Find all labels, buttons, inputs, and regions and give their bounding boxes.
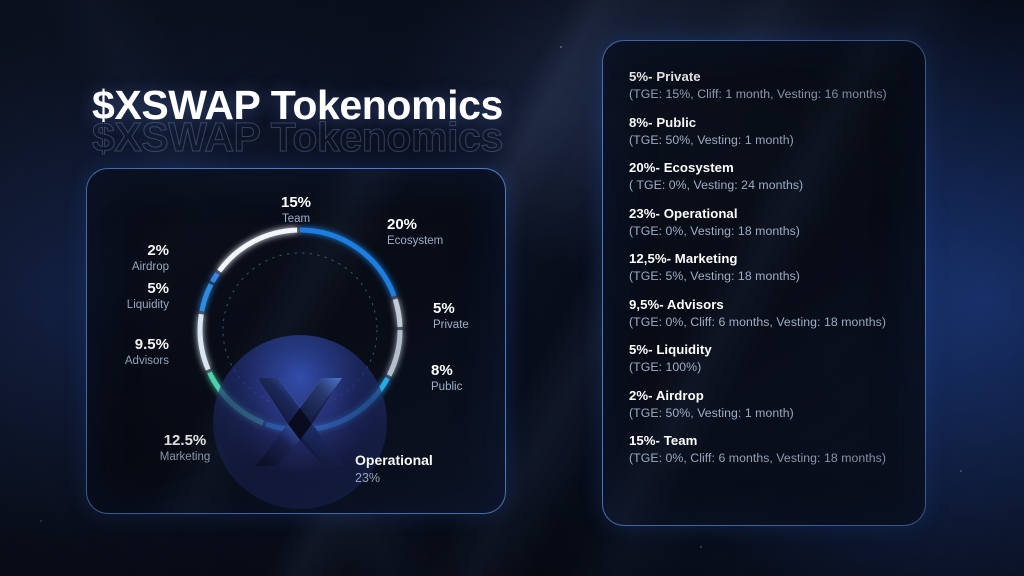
- chart-label-ecosystem: 20% Ecosystem: [387, 217, 443, 248]
- chart-label-marketing-pct: 12.5%: [137, 433, 233, 450]
- chart-label-ecosystem-pct: 20%: [387, 217, 443, 234]
- allocation-detail: ( TGE: 0%, Vesting: 24 months): [629, 178, 907, 192]
- chart-label-ecosystem-name: Ecosystem: [387, 235, 443, 248]
- chart-label-marketing-name: Marketing: [137, 451, 233, 464]
- chart-label-private-pct: 5%: [433, 301, 469, 318]
- allocation-row: 9,5%- Advisors(TGE: 0%, Cliff: 6 months,…: [629, 297, 907, 329]
- allocation-row: 23%- Operational(TGE: 0%, Vesting: 18 mo…: [629, 206, 907, 238]
- chart-label-advisors-pct: 9.5%: [86, 337, 169, 354]
- allocation-heading: 5%- Private: [629, 69, 907, 84]
- allocation-heading: 15%- Team: [629, 433, 907, 448]
- chart-label-team-name: Team: [251, 213, 341, 226]
- page-title: $XSWAP Tokenomics $XSWAP Tokenomics: [92, 82, 503, 129]
- chart-label-operational-name: Operational: [355, 453, 433, 469]
- allocation-detail: (TGE: 5%, Vesting: 18 months): [629, 269, 907, 283]
- chart-label-airdrop-name: Airdrop: [86, 261, 169, 274]
- chart-label-airdrop: 2% Airdrop: [86, 243, 169, 274]
- allocation-heading: 20%- Ecosystem: [629, 160, 907, 175]
- chart-label-public: 8% Public: [431, 363, 462, 394]
- background-speck: [560, 46, 562, 48]
- allocation-row: 12,5%- Marketing(TGE: 5%, Vesting: 18 mo…: [629, 251, 907, 283]
- allocation-heading: 5%- Liquidity: [629, 342, 907, 357]
- xswap-logo-icon: [248, 370, 352, 474]
- allocation-detail: (TGE: 0%, Cliff: 6 months, Vesting: 18 m…: [629, 451, 907, 465]
- allocation-heading: 12,5%- Marketing: [629, 251, 907, 266]
- allocation-detail: (TGE: 50%, Vesting: 1 month): [629, 133, 907, 147]
- allocation-row: 2%- Airdrop(TGE: 50%, Vesting: 1 month): [629, 388, 907, 420]
- donut-chart: 15% Team 20% Ecosystem 5% Private 8% Pub…: [87, 169, 506, 514]
- allocation-detail: (TGE: 50%, Vesting: 1 month): [629, 406, 907, 420]
- allocation-row: 8%- Public(TGE: 50%, Vesting: 1 month): [629, 115, 907, 147]
- allocation-row: 20%- Ecosystem( TGE: 0%, Vesting: 24 mon…: [629, 160, 907, 192]
- allocation-detail: (TGE: 15%, Cliff: 1 month, Vesting: 16 m…: [629, 87, 907, 101]
- chart-label-advisors: 9.5% Advisors: [86, 337, 169, 368]
- allocation-detail: (TGE: 100%): [629, 360, 907, 374]
- chart-label-liquidity-name: Liquidity: [86, 299, 169, 312]
- allocation-heading: 23%- Operational: [629, 206, 907, 221]
- chart-label-operational: Operational 23%: [355, 453, 433, 485]
- chart-label-private: 5% Private: [433, 301, 469, 332]
- chart-label-airdrop-pct: 2%: [86, 243, 169, 260]
- background-speck: [960, 470, 962, 472]
- allocations-card: 5%- Private(TGE: 15%, Cliff: 1 month, Ve…: [602, 40, 926, 526]
- chart-label-public-pct: 8%: [431, 363, 462, 380]
- chart-label-public-name: Public: [431, 381, 462, 394]
- chart-label-team: 15% Team: [251, 195, 341, 226]
- allocation-heading: 8%- Public: [629, 115, 907, 130]
- tokenomics-slide: $XSWAP Tokenomics $XSWAP Tokenomics: [0, 0, 1024, 576]
- allocation-detail: (TGE: 0%, Vesting: 18 months): [629, 224, 907, 238]
- allocation-row: 5%- Liquidity(TGE: 100%): [629, 342, 907, 374]
- allocation-row: 5%- Private(TGE: 15%, Cliff: 1 month, Ve…: [629, 69, 907, 101]
- chart-label-operational-pct: 23%: [355, 471, 433, 485]
- chart-label-liquidity-pct: 5%: [86, 281, 169, 298]
- chart-label-private-name: Private: [433, 319, 469, 332]
- allocation-row: 15%- Team(TGE: 0%, Cliff: 6 months, Vest…: [629, 433, 907, 465]
- background-speck: [40, 520, 42, 522]
- chart-label-team-pct: 15%: [251, 195, 341, 212]
- allocations-list: 5%- Private(TGE: 15%, Cliff: 1 month, Ve…: [629, 69, 907, 465]
- chart-label-advisors-name: Advisors: [86, 355, 169, 368]
- chart-label-liquidity: 5% Liquidity: [86, 281, 169, 312]
- chart-label-marketing: 12.5% Marketing: [137, 433, 233, 464]
- allocation-heading: 9,5%- Advisors: [629, 297, 907, 312]
- allocation-detail: (TGE: 0%, Cliff: 6 months, Vesting: 18 m…: [629, 315, 907, 329]
- page-title-text: $XSWAP Tokenomics: [92, 82, 503, 129]
- chart-card: 15% Team 20% Ecosystem 5% Private 8% Pub…: [86, 168, 506, 514]
- background-speck: [700, 546, 702, 548]
- allocation-heading: 2%- Airdrop: [629, 388, 907, 403]
